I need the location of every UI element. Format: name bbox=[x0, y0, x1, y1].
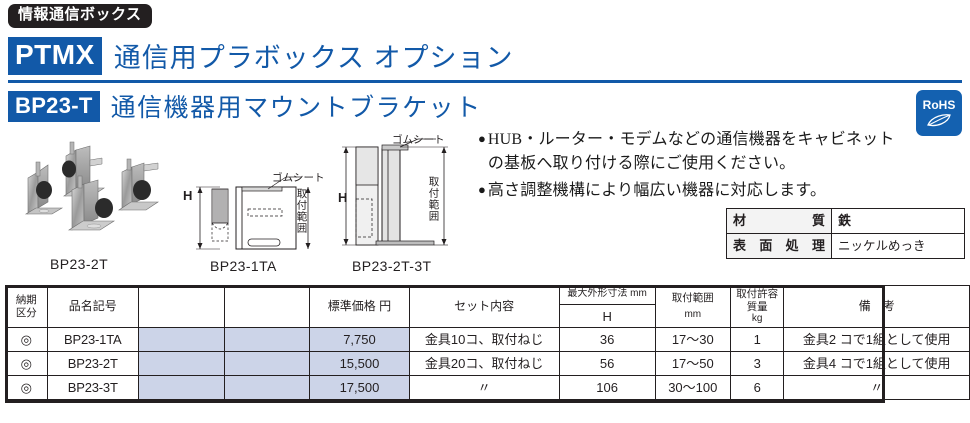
bullet-dot-icon: ● bbox=[478, 128, 486, 150]
label-rubber-sheet-1: ゴムシート bbox=[272, 170, 325, 185]
outer-dim-h: H bbox=[560, 304, 655, 325]
col-header-delivery: 納期 区分 bbox=[6, 286, 48, 328]
leaf-icon bbox=[926, 113, 952, 128]
cell-mount-range: 17〜50 bbox=[655, 352, 730, 376]
material-table: 材質 鉄 表面処理 ニッケルめっき bbox=[726, 208, 965, 259]
col-header-remarks: 備 考 bbox=[784, 286, 970, 328]
col-header-blank2 bbox=[224, 286, 310, 328]
cell-delivery: ◎ bbox=[6, 328, 48, 352]
col-header-price: 標準価格 円 bbox=[310, 286, 409, 328]
allow-mass-line2: 質量 bbox=[735, 301, 779, 313]
series-title: 通信用プラボックス オプション bbox=[114, 36, 514, 75]
cell-allow-mass: 1 bbox=[730, 328, 783, 352]
rohs-label: RoHS bbox=[923, 99, 956, 111]
list-item: ● 高さ調整機構により幅広い機器に対応します。 bbox=[478, 179, 898, 203]
spec-table-wrap: 納期 区分 品名記号 標準価格 円 セット内容 最大外形寸法 mm H 取付範囲… bbox=[5, 285, 970, 400]
col-header-allow-mass: 取付許容 質量 kg bbox=[730, 286, 783, 328]
surface-treatment-label: 表面処理 bbox=[727, 234, 832, 259]
table-row: ◎ BP23-3T 17,500 〃 106 30〜100 6 〃 bbox=[6, 376, 970, 400]
header-divider bbox=[8, 80, 962, 83]
cell-set-contents: 金具20コ、取付ねじ bbox=[409, 352, 559, 376]
cell-product-code: BP23-3T bbox=[47, 376, 138, 400]
col-header-product-code: 品名記号 bbox=[47, 286, 138, 328]
cell-blank2 bbox=[224, 352, 310, 376]
table-header-row: 納期 区分 品名記号 標準価格 円 セット内容 最大外形寸法 mm H 取付範囲… bbox=[6, 286, 970, 328]
label-mount-range-1: 取付範囲 bbox=[296, 188, 307, 234]
allow-mass-line1: 取付許容 bbox=[735, 288, 779, 300]
material-label: 材質 bbox=[727, 209, 832, 234]
cell-mount-range: 30〜100 bbox=[655, 376, 730, 400]
label-mount-range-2: 取付範囲 bbox=[428, 176, 439, 222]
material-value: 鉄 bbox=[832, 209, 965, 234]
drawing1-caption: BP23-1TA bbox=[210, 258, 277, 274]
delivery-line2: 区分 bbox=[10, 307, 43, 319]
cell-blank2 bbox=[224, 376, 310, 400]
col-header-blank1 bbox=[138, 286, 224, 328]
col-header-set-contents: セット内容 bbox=[409, 286, 559, 328]
bullet-dot-icon: ● bbox=[478, 179, 486, 201]
label-h-2: H bbox=[338, 190, 347, 205]
model-title-row: BP23-T 通信機器用マウントブラケット bbox=[8, 88, 482, 124]
cell-set-contents: 金具10コ、取付ねじ bbox=[409, 328, 559, 352]
cell-outer-dim-h: 56 bbox=[559, 352, 655, 376]
mount-range-unit: mm bbox=[660, 309, 726, 321]
cell-delivery: ◎ bbox=[6, 352, 48, 376]
category-tag: 情報通信ボックス bbox=[8, 4, 152, 28]
cell-blank1 bbox=[138, 328, 224, 352]
cell-set-contents: 〃 bbox=[409, 376, 559, 400]
cell-delivery: ◎ bbox=[6, 376, 48, 400]
mount-range-title: 取付範囲 bbox=[660, 292, 726, 304]
drawing-bp23-2t-3t bbox=[336, 133, 476, 262]
table-row: ◎ BP23-2T 15,500 金具20コ、取付ねじ 56 17〜50 3 金… bbox=[6, 352, 970, 376]
col-header-mount-range: 取付範囲 mm bbox=[655, 286, 730, 328]
model-title: 通信機器用マウントブラケット bbox=[111, 88, 482, 124]
col-header-outer-dim: 最大外形寸法 mm H bbox=[559, 286, 655, 328]
cell-blank1 bbox=[138, 352, 224, 376]
cell-outer-dim-h: 106 bbox=[559, 376, 655, 400]
cell-product-code: BP23-1TA bbox=[47, 328, 138, 352]
feature-bullet-list: ● HUB・ルーター・モデムなどの通信機器をキャビネットの基板へ取り付ける際にご… bbox=[478, 128, 898, 205]
rohs-badge: RoHS bbox=[916, 90, 962, 136]
model-code-badge: BP23-T bbox=[8, 91, 100, 122]
cell-blank1 bbox=[138, 376, 224, 400]
label-h-1: H bbox=[183, 188, 192, 203]
cell-price: 15,500 bbox=[310, 352, 409, 376]
series-title-row: PTMX 通信用プラボックス オプション bbox=[8, 36, 513, 75]
spec-table: 納期 区分 品名記号 標準価格 円 セット内容 最大外形寸法 mm H 取付範囲… bbox=[5, 285, 970, 400]
bullet-text: 高さ調整機構により幅広い機器に対応します。 bbox=[488, 179, 898, 203]
cell-outer-dim-h: 36 bbox=[559, 328, 655, 352]
cell-remarks: 金具2 コで1組として使用 bbox=[784, 328, 970, 352]
cell-blank2 bbox=[224, 328, 310, 352]
label-rubber-sheet-2: ゴムシート bbox=[392, 132, 445, 147]
list-item: ● HUB・ルーター・モデムなどの通信機器をキャビネットの基板へ取り付ける際にご… bbox=[478, 128, 898, 177]
table-row: ◎ BP23-1TA 7,750 金具10コ、取付ねじ 36 17〜30 1 金… bbox=[6, 328, 970, 352]
cell-mount-range: 17〜30 bbox=[655, 328, 730, 352]
photo-caption: BP23-2T bbox=[50, 256, 108, 272]
product-photo bbox=[14, 132, 174, 250]
cell-price: 7,750 bbox=[310, 328, 409, 352]
cell-remarks: 金具4 コで1組として使用 bbox=[784, 352, 970, 376]
table-row: 表面処理 ニッケルめっき bbox=[727, 234, 965, 259]
series-code-badge: PTMX bbox=[8, 37, 102, 75]
cell-allow-mass: 6 bbox=[730, 376, 783, 400]
cell-remarks: 〃 bbox=[784, 376, 970, 400]
delivery-line1: 納期 bbox=[10, 294, 43, 306]
cell-price: 17,500 bbox=[310, 376, 409, 400]
outer-dim-title: 最大外形寸法 mm bbox=[564, 288, 651, 300]
bullet-text: HUB・ルーター・モデムなどの通信機器をキャビネットの基板へ取り付ける際にご使用… bbox=[488, 128, 898, 177]
table-row: 材質 鉄 bbox=[727, 209, 965, 234]
cell-product-code: BP23-2T bbox=[47, 352, 138, 376]
allow-mass-line3: kg bbox=[735, 313, 779, 325]
surface-treatment-value: ニッケルめっき bbox=[832, 234, 965, 259]
cell-allow-mass: 3 bbox=[730, 352, 783, 376]
drawing2-caption: BP23-2T-3T bbox=[352, 258, 431, 274]
